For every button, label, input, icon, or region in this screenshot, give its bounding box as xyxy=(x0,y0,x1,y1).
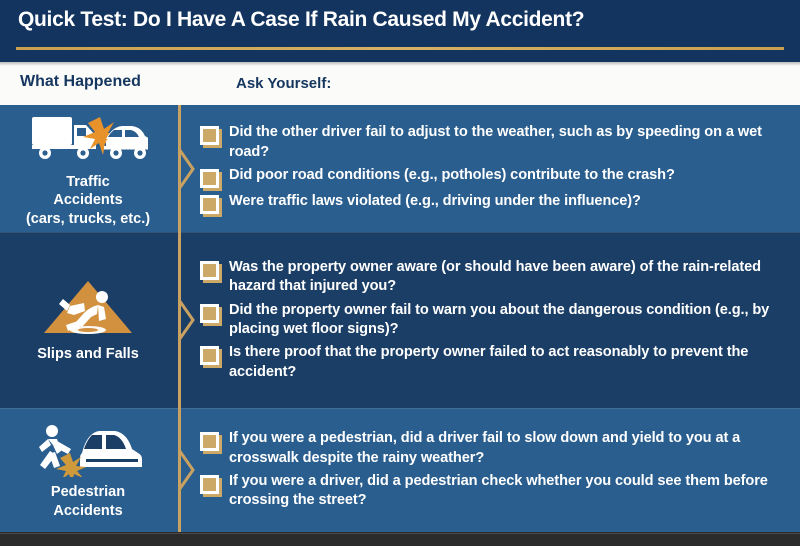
category-cell: Pedestrian Accidents xyxy=(0,408,176,532)
column-header-what-happened: What Happened xyxy=(20,73,141,91)
question-text: Is there proof that the property owner f… xyxy=(229,343,794,382)
checkbox-icon[interactable] xyxy=(200,475,219,494)
category-cell: Slips and Falls xyxy=(0,232,176,408)
checklist-item[interactable]: Is there proof that the property owner f… xyxy=(200,343,794,382)
title-bar: Quick Test: Do I Have A Case If Rain Cau… xyxy=(0,0,800,62)
category-label-line: (cars, trucks, etc.) xyxy=(26,211,150,227)
question-text: Did the other driver fail to adjust to t… xyxy=(229,123,794,162)
checklist-item[interactable]: Did poor road conditions (e.g., potholes… xyxy=(200,166,794,188)
category-cell: Traffic Accidents (cars, trucks, etc.) xyxy=(0,105,176,232)
category-label: Pedestrian Accidents xyxy=(51,483,125,520)
checklist-item[interactable]: Did the property owner fail to warn you … xyxy=(200,301,794,340)
table-row: Slips and Falls Was the property owner a… xyxy=(0,232,800,408)
checklist-item[interactable]: Did the other driver fail to adjust to t… xyxy=(200,123,794,162)
column-header-ask-yourself: Ask Yourself: xyxy=(236,75,331,92)
chevron-right-icon xyxy=(176,448,196,492)
category-label: Slips and Falls xyxy=(37,345,139,364)
header-band-shadow xyxy=(0,62,800,66)
category-label-line: Accidents xyxy=(53,503,122,519)
question-text: Did the property owner fail to warn you … xyxy=(229,301,794,340)
question-text: Were traffic laws violated (e.g., drivin… xyxy=(229,192,641,211)
checkbox-icon[interactable] xyxy=(200,195,219,214)
checkbox-icon[interactable] xyxy=(200,304,219,323)
category-label-line: Accidents xyxy=(53,192,122,208)
checkbox-icon[interactable] xyxy=(200,126,219,145)
checklist-item[interactable]: Was the property owner aware (or should … xyxy=(200,258,794,297)
infographic-root: Quick Test: Do I Have A Case If Rain Cau… xyxy=(0,0,800,546)
questions-cell: Did the other driver fail to adjust to t… xyxy=(200,105,794,232)
question-text: Was the property owner aware (or should … xyxy=(229,258,794,297)
bottom-strip xyxy=(0,532,800,546)
chevron-right-icon xyxy=(176,298,196,342)
question-text: If you were a pedestrian, did a driver f… xyxy=(229,429,794,468)
title-gold-rule xyxy=(16,47,784,50)
category-label-line: Traffic xyxy=(66,174,110,190)
questions-cell: If you were a pedestrian, did a driver f… xyxy=(200,408,794,532)
chevron-right-icon xyxy=(176,147,196,191)
table-row: Traffic Accidents (cars, trucks, etc.) D… xyxy=(0,105,800,232)
page-title: Quick Test: Do I Have A Case If Rain Cau… xyxy=(18,8,584,32)
checkbox-icon[interactable] xyxy=(200,261,219,280)
question-text: If you were a driver, did a pedestrian c… xyxy=(229,472,794,511)
category-label: Traffic Accidents (cars, trucks, etc.) xyxy=(26,173,150,229)
column-header-band: What Happened Ask Yourself: xyxy=(0,62,800,105)
checklist-item[interactable]: Were traffic laws violated (e.g., drivin… xyxy=(200,192,794,214)
category-label-line: Pedestrian xyxy=(51,484,125,500)
checkbox-icon[interactable] xyxy=(200,169,219,188)
checkbox-icon[interactable] xyxy=(200,346,219,365)
checkbox-icon[interactable] xyxy=(200,432,219,451)
table-row: Pedestrian Accidents If you were a pedes… xyxy=(0,408,800,532)
question-text: Did poor road conditions (e.g., potholes… xyxy=(229,166,675,185)
category-label-line: Slips and Falls xyxy=(37,346,139,362)
checklist-item[interactable]: If you were a driver, did a pedestrian c… xyxy=(200,472,794,511)
questions-cell: Was the property owner aware (or should … xyxy=(200,232,794,408)
pedestrian-struck-by-car-icon xyxy=(28,419,148,477)
slip-and-fall-warning-icon xyxy=(40,277,136,339)
checklist-item[interactable]: If you were a pedestrian, did a driver f… xyxy=(200,429,794,468)
truck-car-collision-icon xyxy=(28,109,148,167)
